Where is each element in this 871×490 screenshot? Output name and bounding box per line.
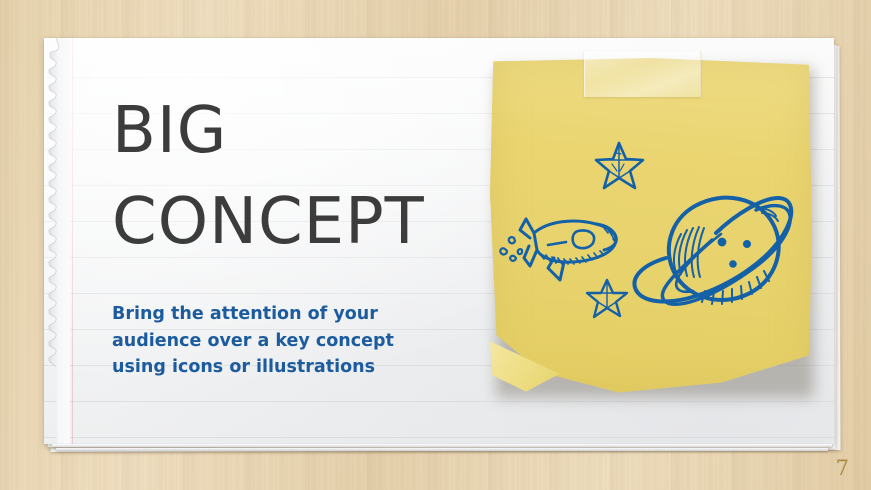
rocket-ship-doodle — [500, 219, 616, 280]
page-subtitle: Bring the attention of your audience ove… — [112, 301, 442, 381]
star-doodle-upper — [596, 143, 643, 188]
paper-stack-edge-top — [52, 444, 832, 447]
slide-canvas: BIG CONCEPT Bring the attention of your … — [0, 0, 871, 490]
margin-rule-line — [72, 38, 73, 444]
space-doodle-illustration — [490, 58, 812, 396]
page-title: BIG CONCEPT — [112, 86, 492, 268]
planet-saturn-doodle — [634, 198, 791, 305]
page-number: 7 — [836, 456, 849, 480]
paper-stack-edge-bottom — [56, 448, 828, 451]
star-doodle-lower — [587, 280, 627, 317]
sticky-note — [490, 58, 820, 413]
